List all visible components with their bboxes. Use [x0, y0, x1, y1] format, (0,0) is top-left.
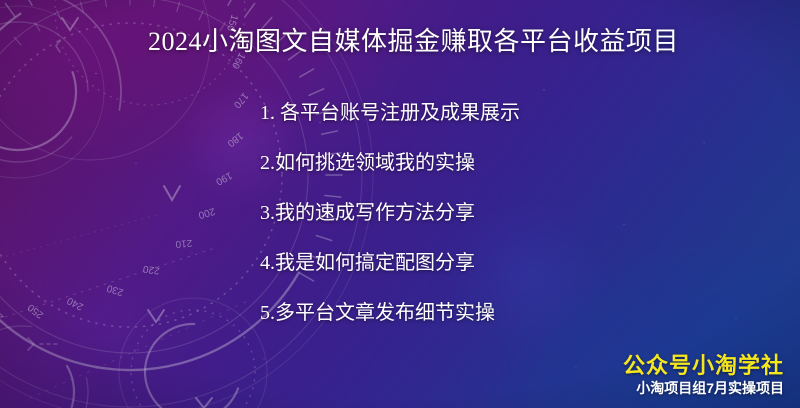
svg-text:230: 230	[105, 282, 125, 298]
list-item: 1. 各平台账号注册及成果展示	[260, 88, 520, 138]
dial-tick-labels: 150 160 170 180 190 200 210 220 230 240 …	[0, 13, 250, 322]
brand-account-name: 公众号小淘学社	[623, 352, 784, 380]
list-item: 2.如何挑选领域我的实操	[260, 138, 520, 188]
svg-text:180: 180	[225, 130, 245, 149]
brand-block: 公众号小淘学社 小淘项目组7月实操项目	[623, 352, 784, 398]
svg-text:220: 220	[142, 263, 160, 276]
svg-text:170: 170	[231, 90, 250, 110]
list-item: 4.我是如何搞定配图分享	[260, 238, 520, 288]
agenda-list: 1. 各平台账号注册及成果展示 2.如何挑选领域我的实操 3.我的速成写作方法分…	[260, 88, 520, 338]
svg-text:250: 250	[26, 301, 46, 320]
list-item: 5.多平台文章发布细节实操	[260, 288, 520, 338]
slide-canvas: 150 160 170 180 190 200 210 220 230 240 …	[0, 0, 800, 408]
brand-subtitle: 小淘项目组7月实操项目	[623, 379, 784, 398]
list-item: 3.我的速成写作方法分享	[260, 188, 520, 238]
svg-text:190: 190	[213, 169, 233, 187]
page-title: 2024小淘图文自媒体掘金赚取各平台收益项目	[148, 26, 679, 57]
svg-text:210: 210	[175, 237, 193, 249]
svg-text:200: 200	[197, 205, 216, 220]
svg-text:260: 260	[0, 303, 6, 323]
svg-text:240: 240	[65, 294, 85, 312]
